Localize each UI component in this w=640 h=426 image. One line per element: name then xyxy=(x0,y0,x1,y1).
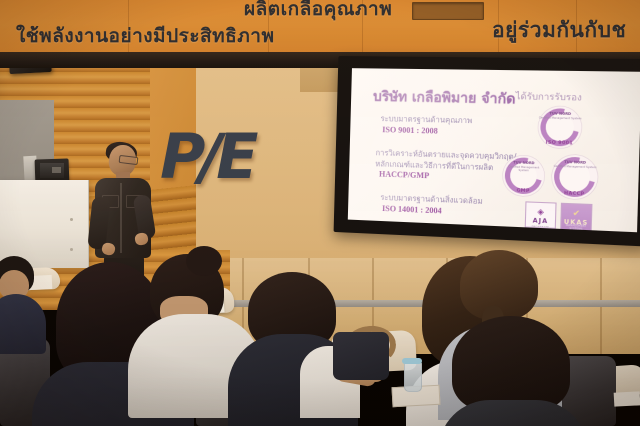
projection-screen: บริษัท เกลือพิมาย จำกัด ได้รับการรับรอง … xyxy=(334,56,640,247)
shirt-placket xyxy=(120,183,122,253)
seal-mid-text: Certified Management System xyxy=(503,165,545,173)
person-torso xyxy=(0,294,46,354)
orange-banner-wall: ผลิตเกลือคุณภาพ ใช้พลังงานอย่างมีประสิทธ… xyxy=(0,0,640,56)
aja-footer-band xyxy=(526,226,555,231)
paper-sheet xyxy=(614,391,640,406)
person-hair xyxy=(452,316,570,412)
lectern-screw xyxy=(70,218,73,221)
presentation-slide: บริษัท เกลือพิมาย จำกัด ได้รับการรับรอง … xyxy=(348,68,640,232)
slide-block-2-code: HACCP/GMP xyxy=(379,169,429,180)
lectern xyxy=(0,180,89,268)
ukas-sub: MANAGEMENT SYSTEMS xyxy=(561,224,591,232)
accreditation-logo-ukas: ✔ UKAS MANAGEMENT SYSTEMS xyxy=(560,203,592,233)
laptop-screen-glint xyxy=(52,167,61,173)
aja-name: AJA xyxy=(526,217,555,226)
seal-top-text: TUV NORD xyxy=(539,111,582,116)
lecture-room-photo: ผลิตเกลือคุณภาพ ใช้พลังงานอย่างมีประสิทธ… xyxy=(0,0,640,426)
banner-text-line-3: อยู่ร่วมกันกับช xyxy=(492,14,626,47)
slide-block-1-code: ISO 9001 : 2008 xyxy=(382,125,438,136)
lectern-screw xyxy=(70,248,73,251)
person-hair-bun xyxy=(186,246,222,276)
banner-text-line-2: ใช้พลังงานอย่างมีประสิทธิภาพ xyxy=(16,21,274,51)
seal-label: GMP xyxy=(502,188,544,195)
certification-seal-gmp: TUV NORD Certified Management System GMP xyxy=(502,155,545,197)
wall-plaque xyxy=(412,2,484,20)
certification-seal-haccp: TUV NORD Certified Management System HAC… xyxy=(551,154,598,200)
certification-seal-iso9001: TUV NORD Certified Management System ISO… xyxy=(538,106,582,149)
person-torso xyxy=(438,400,588,426)
handbag xyxy=(333,332,389,380)
seal-label: ISO 9001 xyxy=(538,140,581,146)
drink-cup xyxy=(404,362,422,392)
audience-far-left xyxy=(0,256,46,346)
slide-title: บริษัท เกลือพิมาย จำกัด xyxy=(373,85,516,110)
drink-cup-lid xyxy=(402,358,422,364)
accreditation-logo-aja: ◈ AJA REGISTRARS xyxy=(525,201,557,231)
seal-label: HACCP xyxy=(551,191,597,198)
slide-block-3-code: ISO 14001 : 2004 xyxy=(382,204,442,216)
audience-right-front-dark xyxy=(452,316,582,426)
slide-subtitle: ได้รับการรับรอง xyxy=(515,89,582,105)
company-wall-logo: P/E xyxy=(160,122,252,196)
